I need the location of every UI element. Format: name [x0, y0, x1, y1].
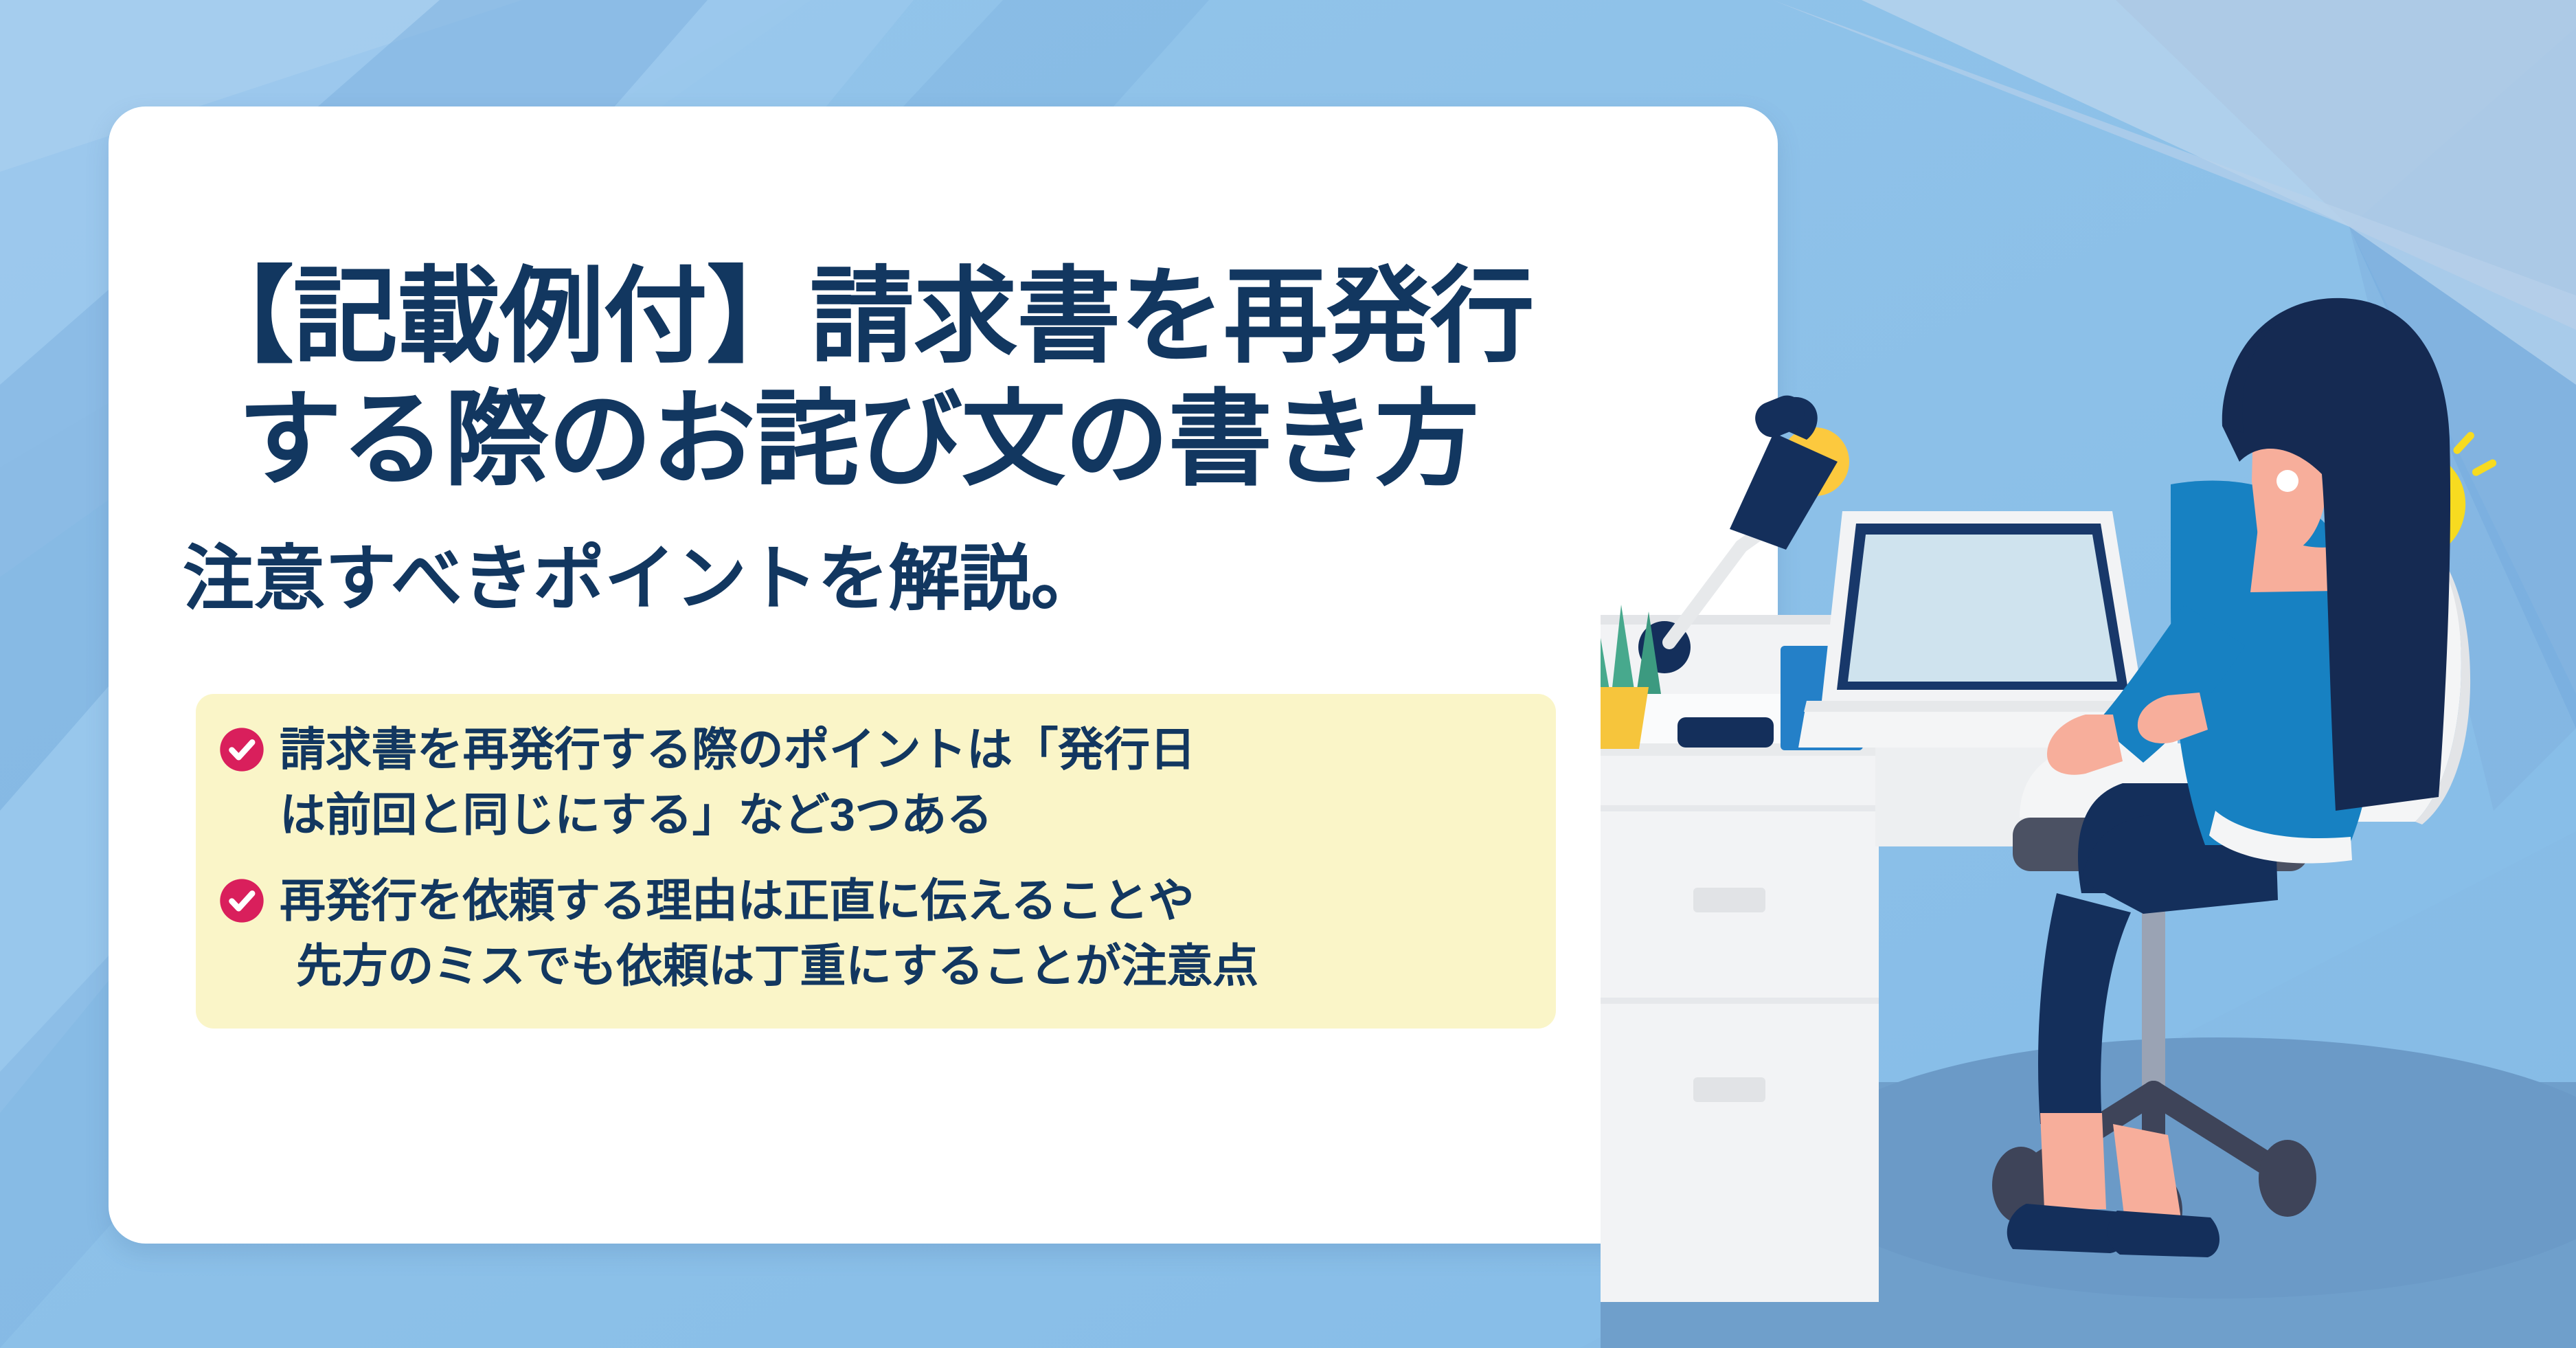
headline-line-1: 【記載例付】請求書を再発行: [190, 258, 1533, 375]
page-title: 【記載例付】請求書を再発行する際のお詫び文の書き方: [190, 256, 1735, 502]
point-2-line-1: 再発行を依頼する理由は正直に伝えることや: [280, 875, 1194, 927]
content-card: 【記載例付】請求書を再発行する際のお詫び文の書き方 注意すべきポイントを解説。 …: [109, 106, 1778, 1244]
headline-line-2: する際のお詫び文の書き方: [190, 379, 1735, 502]
woman-working-at-desk-illustration: [1601, 0, 2576, 1348]
list-item: 請求書を再発行する際のポイントは「発行日は前回と同じにする」など3つある: [219, 717, 1528, 848]
list-item: 再発行を依頼する理由は正直に伝えることや先方のミスでも依頼は丁重にすることが注意…: [219, 868, 1528, 999]
desk-tray: [1677, 717, 1774, 748]
point-2-line-2: 先方のミスでも依頼は丁重にすることが注意点: [280, 934, 1258, 999]
list-item-text: 請求書を再発行する際のポイントは「発行日は前回と同じにする」など3つある: [280, 717, 1195, 848]
check-circle-icon: [219, 878, 264, 923]
point-1-line-1: 請求書を再発行する際のポイントは「発行日: [280, 724, 1195, 776]
thumbnail-canvas: 【記載例付】請求書を再発行する際のお詫び文の書き方 注意すべきポイントを解説。 …: [0, 0, 2576, 1348]
page-subtitle: 注意すべきポイントを解説。: [183, 537, 1728, 622]
check-circle-icon: [219, 727, 264, 772]
key-points-panel: 請求書を再発行する際のポイントは「発行日は前回と同じにする」など3つある 再発行…: [196, 694, 1556, 1029]
point-1-line-2: は前回と同じにする」など3つある: [280, 783, 1195, 848]
list-item-text: 再発行を依頼する理由は正直に伝えることや先方のミスでも依頼は丁重にすることが注意…: [280, 868, 1258, 999]
